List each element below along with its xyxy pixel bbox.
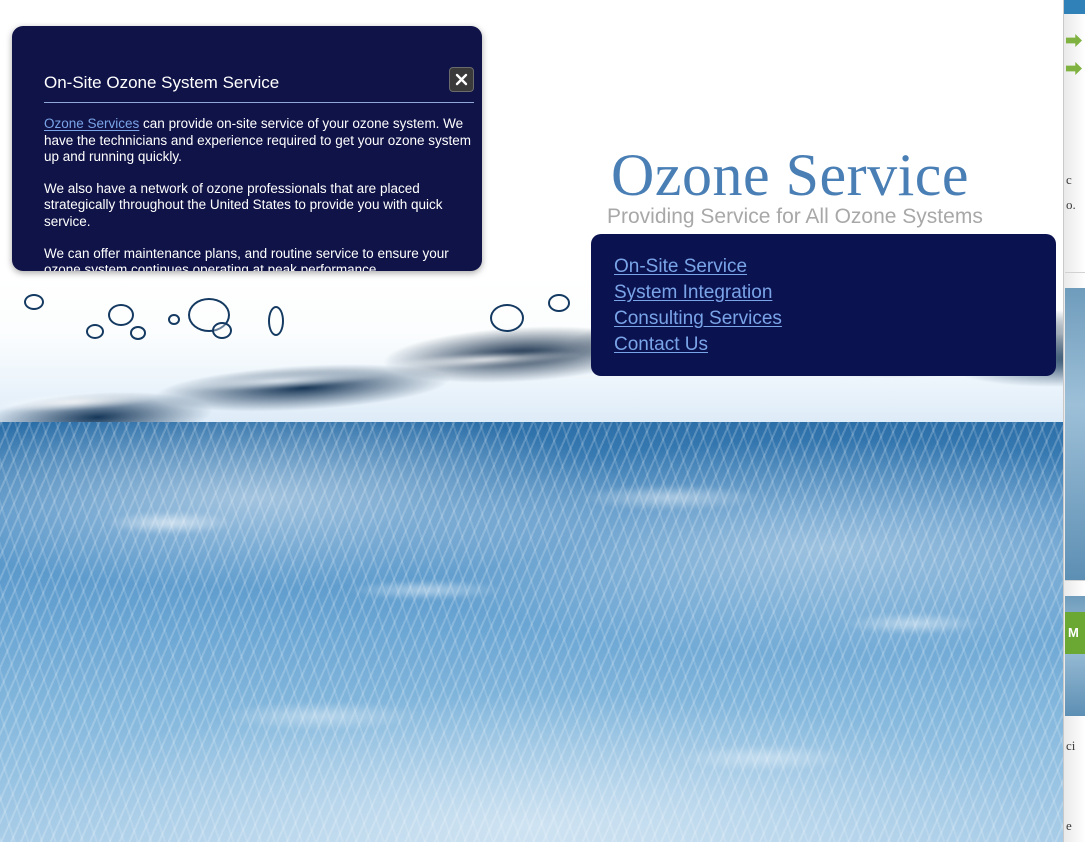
modal-paragraph: Ozone Services can provide on-site servi… <box>44 116 474 166</box>
page-subtitle: Providing Service for All Ozone Systems <box>607 204 983 230</box>
background-photo-strip <box>1065 288 1085 580</box>
modal-body: Ozone Services can provide on-site servi… <box>44 116 474 271</box>
modal-title: On-Site Ozone System Service <box>44 71 279 95</box>
clipped-text-line: e <box>1066 818 1085 834</box>
primary-nav: On-Site Service System Integration Consu… <box>591 234 1056 376</box>
clipped-text-line: o. <box>1066 197 1085 213</box>
clipped-text-line: c <box>1066 172 1085 188</box>
page-root: Ozone Service Providing Service for All … <box>0 0 1085 842</box>
divider <box>1065 580 1085 581</box>
background-cta-button[interactable]: M <box>1065 612 1085 654</box>
modal-paragraph: We can offer maintenance plans, and rout… <box>44 246 474 271</box>
background-topbar <box>1064 0 1085 14</box>
nav-item-consulting-services[interactable]: Consulting Services <box>614 306 782 332</box>
background-page-strip: c o. M ci e <box>1063 0 1085 842</box>
water-surface <box>0 422 1063 842</box>
page-title: Ozone Service <box>611 141 969 209</box>
water-droplet <box>548 294 570 312</box>
water-droplet <box>86 324 104 339</box>
water-droplet <box>24 294 44 310</box>
ozone-services-link[interactable]: Ozone Services <box>44 116 139 131</box>
onsite-service-modal: On-Site Ozone System Service Ozone Servi… <box>12 26 482 271</box>
water-droplet <box>212 322 232 339</box>
nav-item-system-integration[interactable]: System Integration <box>614 280 772 306</box>
clipped-text-line: ci <box>1066 738 1085 754</box>
close-button[interactable] <box>449 67 474 92</box>
water-droplet <box>168 314 180 325</box>
divider <box>1065 272 1085 273</box>
close-icon <box>455 73 468 86</box>
water-droplet <box>490 304 524 332</box>
water-droplet <box>108 304 134 326</box>
nav-item-contact-us[interactable]: Contact Us <box>614 332 708 358</box>
modal-paragraph: We also have a network of ozone professi… <box>44 181 474 231</box>
water-droplet <box>130 326 146 340</box>
nav-item-on-site-service[interactable]: On-Site Service <box>614 254 747 280</box>
water-droplet <box>268 306 284 336</box>
modal-title-divider <box>44 102 474 103</box>
